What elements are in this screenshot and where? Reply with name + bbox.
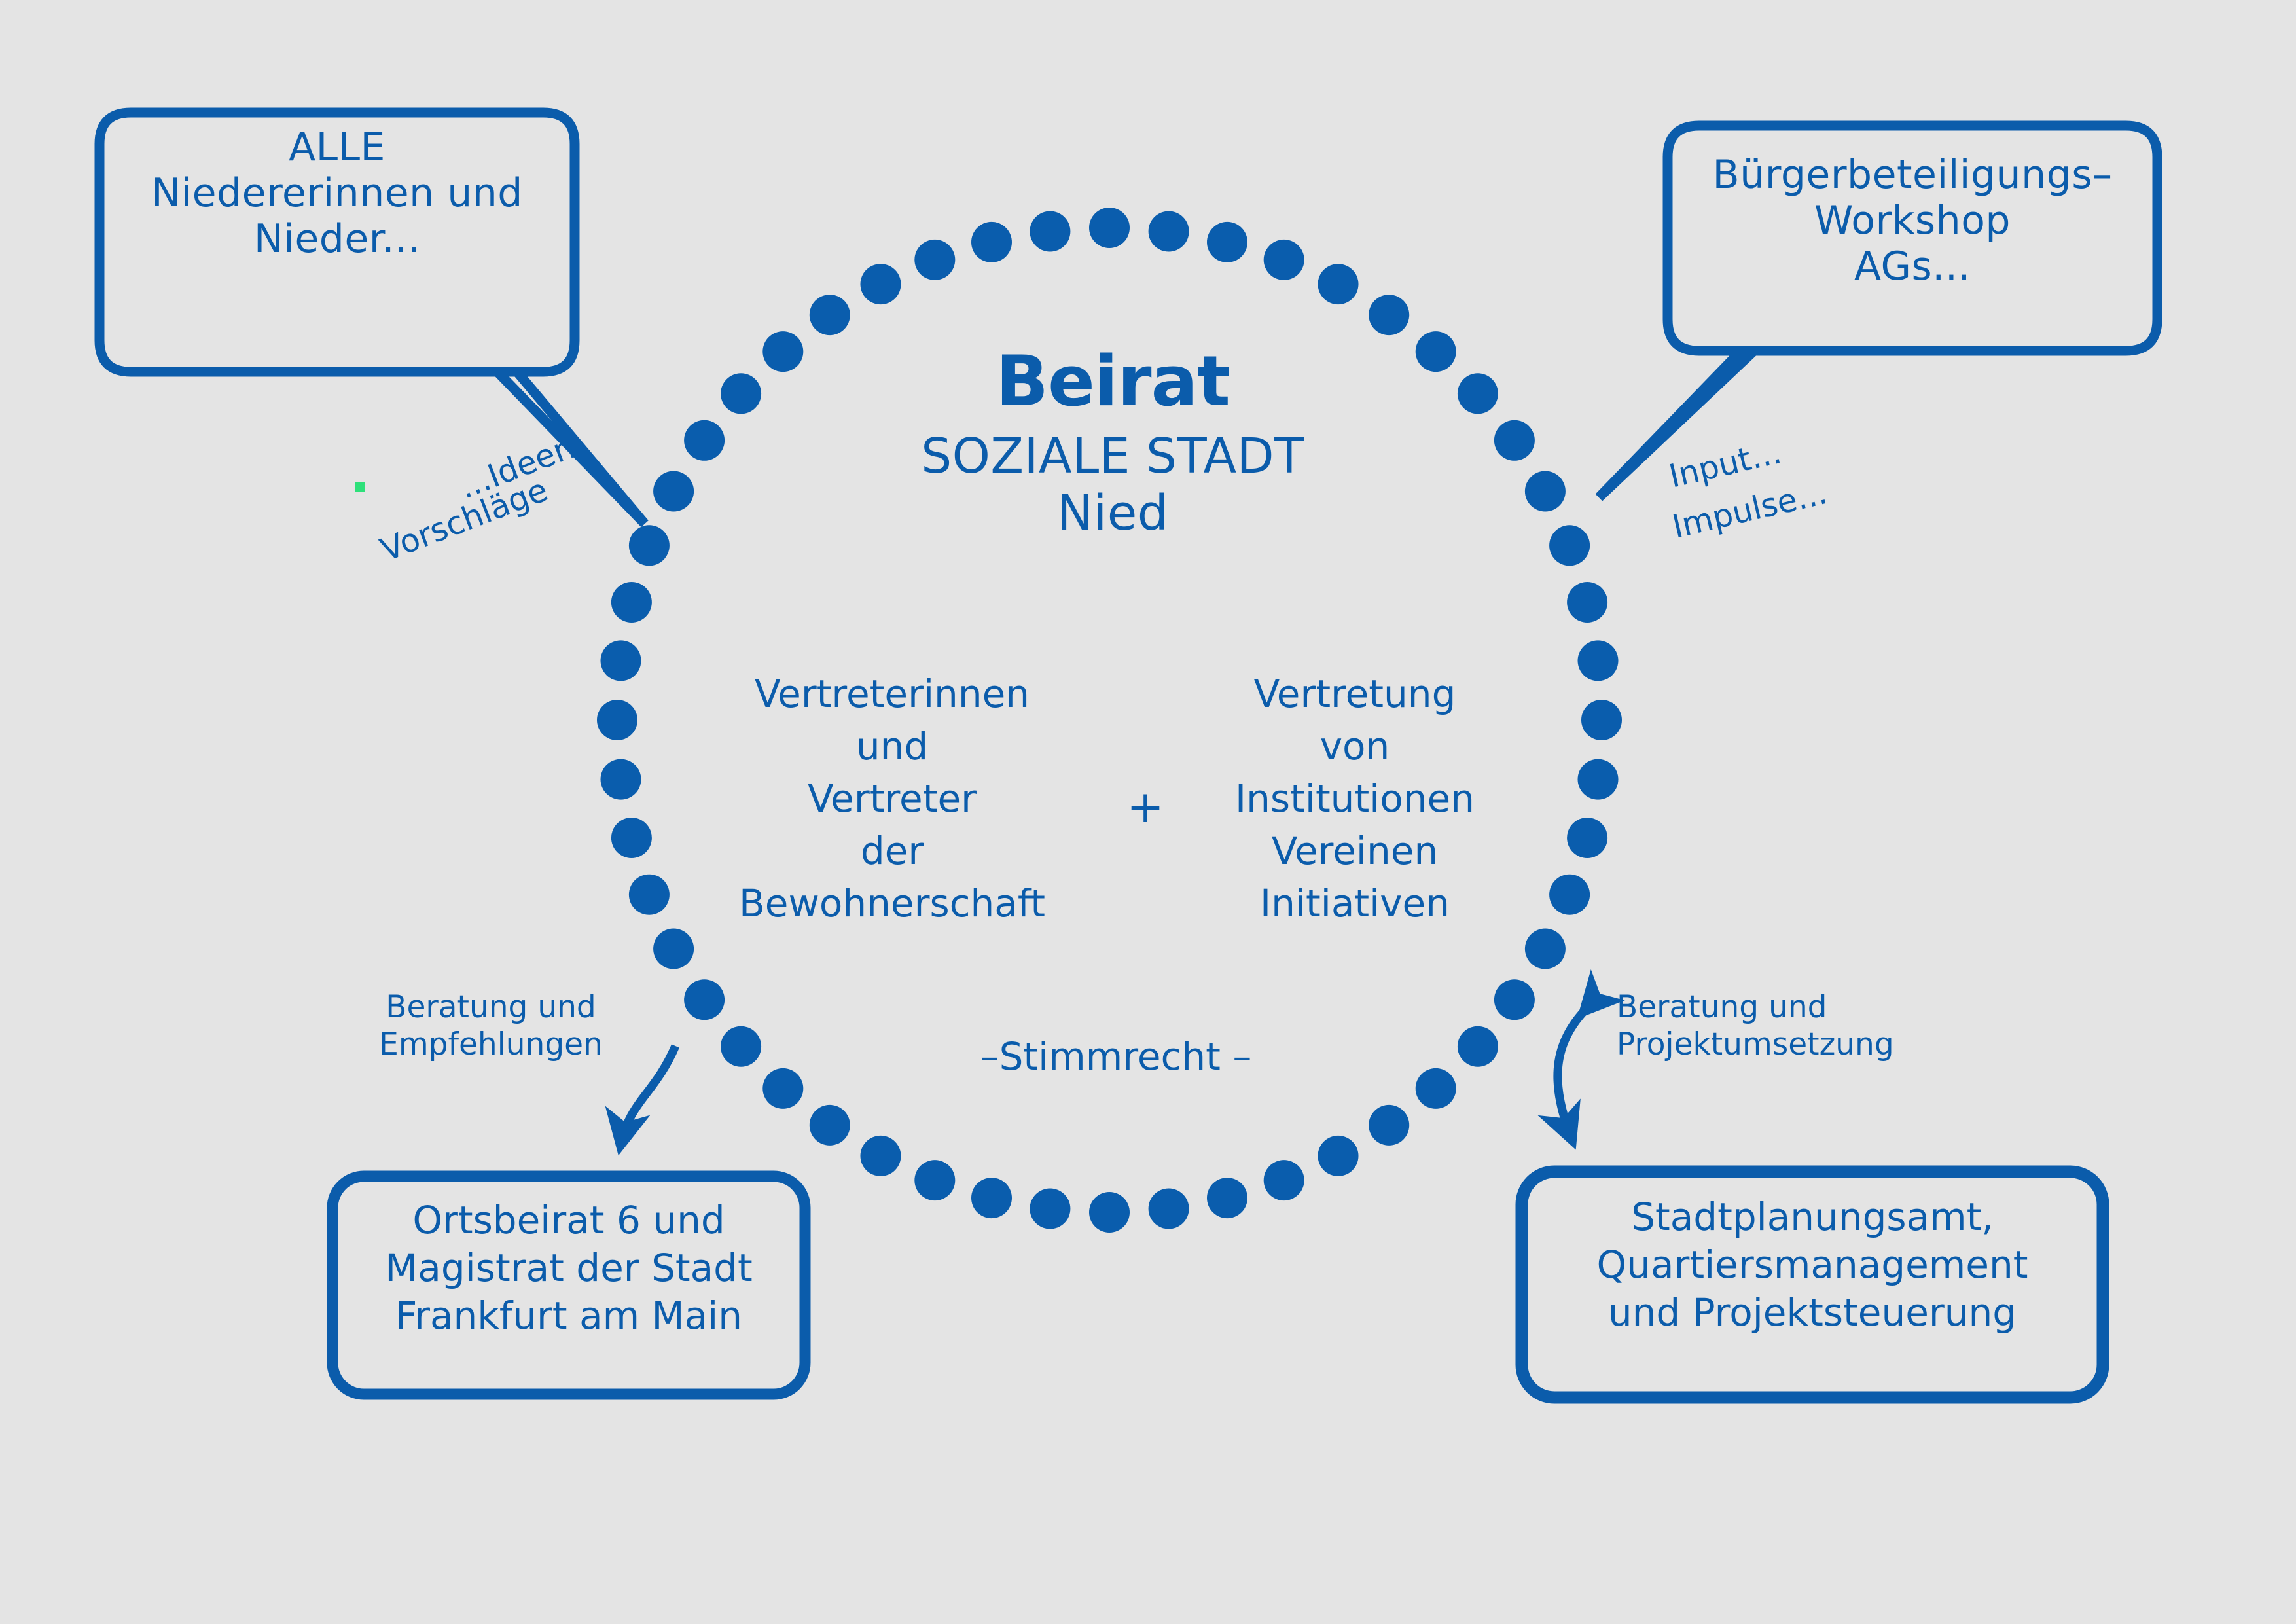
circle-dot	[1318, 264, 1359, 304]
circle-dot	[1494, 979, 1535, 1020]
circle-dot	[721, 373, 761, 414]
residents-line-3: Vertreter	[709, 772, 1075, 825]
speech-bubble-top-right-text: Bürgerbeteiligungs– Workshop AGs...	[1668, 152, 2157, 290]
circle-dot	[721, 1026, 761, 1067]
circle-dot	[971, 222, 1012, 262]
circle-dot	[1458, 1026, 1498, 1067]
circle-dot	[1149, 211, 1189, 252]
circle-dot	[1416, 1068, 1456, 1109]
beratung-projektumsetzung-line-2: Projektumsetzung	[1617, 1026, 1957, 1063]
page-title: Beirat	[759, 347, 1466, 416]
bubble-tr-line-2: Workshop	[1668, 198, 2157, 244]
diagram-canvas: ...Ideen Vorschläge Input... Impulse... …	[0, 0, 2296, 1624]
stimmrecht-note: –Stimmrecht –	[844, 1034, 1388, 1079]
members-column-institutions: Vertretung von Institutionen Vereinen In…	[1172, 668, 1538, 929]
circle-dot	[684, 420, 725, 461]
institutions-line-4: Vereinen	[1172, 825, 1538, 877]
circle-dot	[1264, 1160, 1304, 1200]
circle-dot	[1525, 929, 1566, 969]
subtitle-nied: Nied	[759, 485, 1466, 542]
institutions-line-5: Initiativen	[1172, 877, 1538, 929]
circle-dot	[1030, 211, 1070, 252]
residents-line-2: und	[709, 720, 1075, 772]
ortsbeirat-line-3: Frankfurt am Main	[332, 1292, 805, 1340]
box-bottom-left-text: Ortsbeirat 6 und Magistrat der Stadt Fra…	[332, 1197, 805, 1340]
stadtplanungsamt-line-2: Quartiersmanagement	[1522, 1241, 2103, 1289]
circle-dot	[684, 979, 725, 1020]
circle-dot	[611, 818, 652, 858]
circle-dot	[861, 264, 901, 304]
circle-dot	[1264, 240, 1304, 280]
members-column-residents: Vertreterinnen und Vertreter der Bewohne…	[709, 668, 1075, 929]
residents-line-1: Vertreterinnen	[709, 668, 1075, 720]
circle-dot	[1369, 295, 1409, 335]
arrow-beirat-to-ortsbeirat	[620, 1046, 675, 1146]
label-beratung-empfehlungen: Beratung und Empfehlungen	[353, 988, 628, 1064]
circle-dot	[601, 640, 641, 681]
bubble-tl-line-3: Nieder...	[99, 216, 575, 262]
residents-line-4: der	[709, 825, 1075, 877]
institutions-line-3: Institutionen	[1172, 772, 1538, 825]
beirat-heading-block: Beirat SOZIALE STADT Nied	[759, 347, 1466, 543]
residents-line-5: Bewohnerschaft	[709, 877, 1075, 929]
circle-dot	[601, 759, 641, 800]
circle-dot	[1549, 875, 1590, 915]
bubble-tr-line-3: AGs...	[1668, 244, 2157, 289]
ortsbeirat-line-1: Ortsbeirat 6 und	[332, 1197, 805, 1244]
circle-dot	[762, 1068, 803, 1109]
circle-dot	[1149, 1189, 1189, 1229]
box-bottom-right-text: Stadtplanungsamt, Quartiersmanagement un…	[1522, 1193, 2103, 1337]
circle-dot	[629, 525, 670, 566]
beratung-projektumsetzung-line-1: Beratung und	[1617, 988, 1957, 1026]
circle-dot	[629, 875, 670, 915]
circle-dot	[810, 295, 850, 335]
circle-dot	[1369, 1105, 1409, 1146]
circle-dot	[1525, 471, 1566, 512]
circle-dot	[1549, 525, 1590, 566]
circle-dot	[1578, 759, 1619, 800]
circle-dot	[653, 471, 694, 512]
circle-dot	[810, 1105, 850, 1146]
institutions-line-2: von	[1172, 720, 1538, 772]
circle-dot	[653, 929, 694, 969]
circle-dot	[1318, 1136, 1359, 1176]
bubble-tl-line-1: ALLE	[99, 124, 575, 170]
circle-dot	[861, 1136, 901, 1176]
bubble-tl-line-2: Niedererinnen und	[99, 170, 575, 216]
institutions-line-1: Vertretung	[1172, 668, 1538, 720]
circle-dot	[1089, 1192, 1130, 1233]
circle-dot	[1494, 420, 1535, 461]
bubble-tr-line-1: Bürgerbeteiligungs–	[1668, 152, 2157, 198]
arrow-beirat-to-stadtplanungsamt	[1558, 1011, 1584, 1140]
circle-dot	[1567, 818, 1607, 858]
circle-dot	[914, 1160, 955, 1200]
circle-dot	[611, 582, 652, 623]
label-beratung-projektumsetzung: Beratung und Projektumsetzung	[1617, 988, 1957, 1064]
speech-bubble-top-left-text: ALLE Niedererinnen und Nieder...	[99, 124, 575, 262]
circle-dot	[1207, 222, 1247, 262]
circle-dot	[1030, 1189, 1070, 1229]
beratung-empfehlungen-line-2: Empfehlungen	[353, 1026, 628, 1063]
subtitle-soziale-stadt: SOZIALE STADT	[759, 428, 1466, 485]
label-input: Input...	[1666, 433, 1785, 496]
beratung-empfehlungen-line-1: Beratung und	[353, 988, 628, 1026]
circle-dot	[1567, 582, 1607, 623]
circle-dot	[971, 1178, 1012, 1218]
circle-dot	[597, 700, 637, 740]
stadtplanungsamt-line-1: Stadtplanungsamt,	[1522, 1193, 2103, 1241]
circle-dot	[1581, 700, 1622, 740]
circle-dot	[1578, 640, 1619, 681]
circle-dot	[914, 240, 955, 280]
stadtplanungsamt-line-3: und Projektsteuerung	[1522, 1289, 2103, 1337]
circle-dot	[1207, 1178, 1247, 1218]
ortsbeirat-line-2: Magistrat der Stadt	[332, 1244, 805, 1292]
circle-dot	[1089, 208, 1130, 248]
green-marker-square	[355, 482, 365, 492]
